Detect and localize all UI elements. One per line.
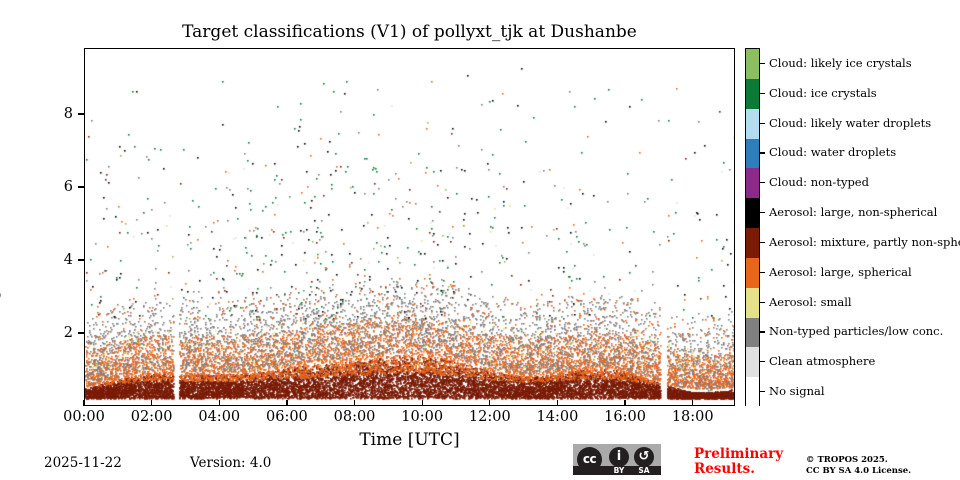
x-tick-label: 10:00 — [392, 409, 452, 425]
x-tick-label: 02:00 — [122, 409, 182, 425]
x-tick-mark — [692, 400, 693, 406]
x-tick-mark — [151, 400, 152, 406]
colorbar-band-3 — [746, 288, 759, 318]
colorbar-tick-4 — [760, 272, 765, 273]
legend-label-8: Cloud: water droplets — [769, 146, 896, 158]
x-tick-label: 06:00 — [257, 409, 317, 425]
x-tick-label: 00:00 — [54, 409, 114, 425]
x-tick-1600: 16:00 — [625, 406, 626, 407]
colorbar-band-10 — [746, 79, 759, 109]
legend-label-6: Aerosol: large, non-spherical — [769, 206, 937, 218]
legend-label-9: Cloud: likely water droplets — [769, 117, 931, 129]
colorbar-band-11 — [746, 49, 759, 79]
legend-label-11: Cloud: likely ice crystals — [769, 57, 912, 69]
colorbar-band-6 — [746, 198, 759, 228]
cc-logo-icon: cc — [577, 447, 602, 472]
colorbar-tick-3 — [760, 302, 765, 303]
copyright-notice: © TROPOS 2025. CC BY SA 4.0 License. — [806, 455, 911, 477]
y-tick-8: 8 — [0, 114, 84, 115]
x-tick-1400: 14:00 — [557, 406, 558, 407]
preliminary-results-notice: Preliminary Results. — [694, 447, 794, 477]
legend-label-10: Cloud: ice crystals — [769, 87, 877, 99]
lidar-target-classification-figure: Target classifications (V1) of pollyxt_t… — [0, 0, 960, 480]
cc-attribution-icon: i — [609, 447, 629, 467]
y-tick-mark — [78, 186, 84, 187]
y-tick-4: 4 — [0, 260, 84, 261]
legend-label-2: Non-typed particles/low conc. — [769, 325, 943, 337]
legend-label-5: Aerosol: mixture, partly non-spherical — [769, 236, 960, 248]
colorbar-band-0 — [746, 377, 759, 407]
x-tick-mark — [624, 400, 625, 406]
legend-label-1: Clean atmosphere — [769, 355, 875, 367]
colorbar-band-9 — [746, 109, 759, 139]
colorbar-tick-8 — [760, 152, 765, 153]
x-tick-label: 12:00 — [460, 409, 520, 425]
x-tick-label: 04:00 — [189, 409, 249, 425]
colorbar-band-5 — [746, 228, 759, 258]
y-tick-mark — [78, 332, 84, 333]
colorbar-band-4 — [746, 258, 759, 288]
footer-date: 2025-11-22 — [44, 455, 122, 471]
cc-sa-label: SA — [633, 466, 655, 475]
copyright-line-2: CC BY SA 4.0 License. — [806, 466, 911, 477]
y-tick-label: 6 — [64, 177, 73, 197]
x-tick-mark — [286, 400, 287, 406]
colorbar-tick-1 — [760, 361, 765, 362]
x-tick-1200: 12:00 — [490, 406, 491, 407]
preliminary-line-2: Results. — [694, 462, 794, 477]
y-tick-mark — [78, 113, 84, 114]
x-tick-label: 18:00 — [663, 409, 723, 425]
colorbar-band-2 — [746, 318, 759, 348]
x-tick-1800: 18:00 — [693, 406, 694, 407]
copyright-line-1: © TROPOS 2025. — [806, 455, 911, 466]
legend-label-7: Cloud: non-typed — [769, 176, 869, 188]
colorbar-tick-5 — [760, 242, 765, 243]
x-tick-label: 16:00 — [595, 409, 655, 425]
y-tick-6: 6 — [0, 187, 84, 188]
preliminary-line-1: Preliminary — [694, 447, 794, 462]
creative-commons-badge-icon: cc i ↺ BY SA — [573, 444, 661, 475]
footer-version: Version: 4.0 — [190, 455, 271, 471]
colorbar-band-7 — [746, 168, 759, 198]
colorbar-tick-2 — [760, 331, 765, 332]
x-tick-0400: 04:00 — [219, 406, 220, 407]
x-tick-mark — [354, 400, 355, 406]
x-tick-mark — [83, 400, 84, 406]
x-tick-mark — [557, 400, 558, 406]
y-tick-label: 2 — [64, 323, 73, 343]
cc-sharealike-icon: ↺ — [634, 447, 654, 467]
y-axis-label: Height [km] — [0, 178, 2, 378]
colorbar-tick-7 — [760, 182, 765, 183]
colorbar-tick-10 — [760, 93, 765, 94]
y-tick-label: 4 — [64, 250, 73, 270]
x-tick-0800: 08:00 — [355, 406, 356, 407]
legend-label-0: No signal — [769, 385, 825, 397]
cc-by-label: BY — [608, 466, 630, 475]
x-tick-1000: 10:00 — [422, 406, 423, 407]
x-tick-0000: 00:00 — [84, 406, 85, 407]
x-tick-mark — [422, 400, 423, 406]
y-tick-label: 8 — [64, 104, 73, 124]
y-tick-2: 2 — [0, 333, 84, 334]
legend-label-3: Aerosol: small — [769, 296, 852, 308]
classification-colorbar — [745, 48, 760, 406]
x-tick-0600: 06:00 — [287, 406, 288, 407]
y-tick-mark — [78, 259, 84, 260]
page-title: Target classifications (V1) of pollyxt_t… — [84, 22, 735, 42]
colorbar-band-1 — [746, 347, 759, 377]
x-tick-0200: 02:00 — [152, 406, 153, 407]
colorbar-tick-0 — [760, 391, 765, 392]
scatter-plot-canvas — [85, 49, 735, 406]
plot-area — [84, 48, 735, 406]
colorbar-tick-11 — [760, 63, 765, 64]
x-tick-label: 14:00 — [527, 409, 587, 425]
colorbar-tick-6 — [760, 212, 765, 213]
x-tick-mark — [489, 400, 490, 406]
colorbar-band-8 — [746, 139, 759, 169]
x-tick-label: 08:00 — [325, 409, 385, 425]
legend-label-4: Aerosol: large, spherical — [769, 266, 912, 278]
x-tick-mark — [219, 400, 220, 406]
colorbar-tick-9 — [760, 123, 765, 124]
